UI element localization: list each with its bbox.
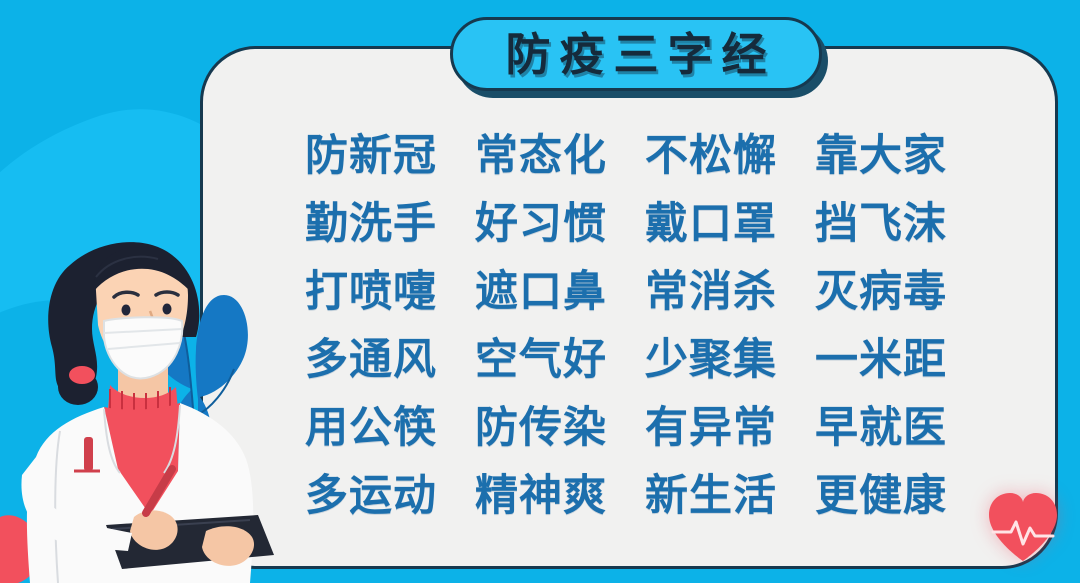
verse-item: 灭病毒 — [815, 271, 947, 314]
verse-item: 防新冠 — [305, 135, 437, 178]
verse-item: 勤洗手 — [305, 203, 437, 246]
verse-item: 常消杀 — [645, 271, 777, 314]
verse-item: 防传染 — [475, 407, 607, 450]
poster-root: 防新冠 常态化 不松懈 靠大家 勤洗手 好习惯 戴口罩 挡飞沫 打喷嚏 遮口鼻 … — [0, 0, 1080, 583]
verse-item: 一米距 — [815, 339, 947, 382]
heart-with-pulse-icon — [985, 490, 1061, 564]
title-pill: 防疫三字经 — [450, 17, 822, 91]
verse-item: 空气好 — [475, 339, 607, 382]
verse-item: 遮口鼻 — [475, 271, 607, 314]
verse-item: 早就医 — [815, 407, 947, 450]
verse-item: 戴口罩 — [645, 203, 777, 246]
eye-left — [122, 305, 131, 316]
verse-item: 不松懈 — [645, 135, 777, 178]
verse-item: 多通风 — [305, 339, 437, 382]
female-doctor-illustration — [0, 225, 300, 583]
verse-item: 有异常 — [645, 407, 777, 450]
verse-item: 用公筷 — [305, 407, 437, 450]
verse-item: 常态化 — [475, 135, 607, 178]
verse-item: 精神爽 — [475, 475, 607, 518]
page-title: 防疫三字经 — [496, 32, 775, 77]
verse-item: 多运动 — [305, 475, 437, 518]
eye-right — [163, 304, 172, 315]
verse-item: 好习惯 — [475, 203, 607, 246]
verse-item: 靠大家 — [815, 135, 947, 178]
verse-item: 更健康 — [815, 475, 947, 518]
verse-item: 挡飞沫 — [815, 203, 947, 246]
verse-item: 打喷嚏 — [305, 271, 437, 314]
verse-grid: 防新冠 常态化 不松懈 靠大家 勤洗手 好习惯 戴口罩 挡飞沫 打喷嚏 遮口鼻 … — [305, 122, 985, 530]
pocket-pen — [84, 437, 93, 471]
hair-tie — [69, 366, 95, 384]
verse-item: 新生活 — [645, 475, 777, 518]
verse-item: 少聚集 — [645, 339, 777, 382]
